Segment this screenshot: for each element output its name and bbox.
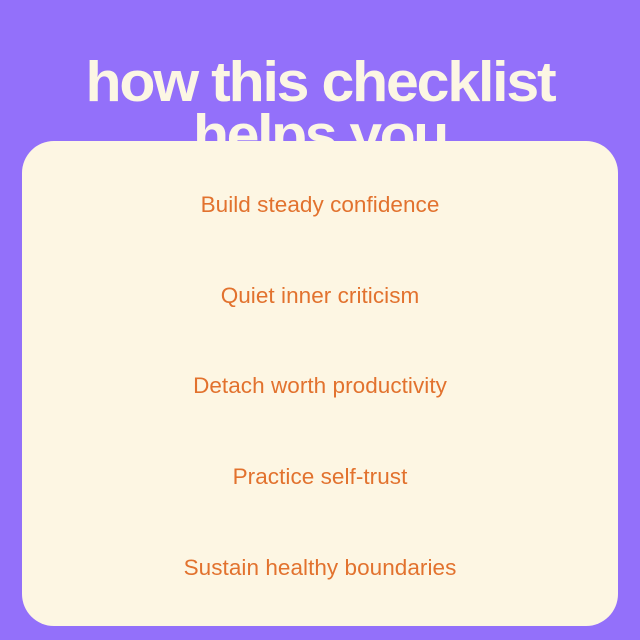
benefits-card: Build steady confidence Quiet inner crit… xyxy=(22,141,618,626)
list-item: Sustain healthy boundaries xyxy=(22,557,618,580)
list-item: Quiet inner criticism xyxy=(22,285,618,308)
page-title-line-1: how this checklist xyxy=(0,56,640,109)
list-item: Detach worth productivity xyxy=(22,375,618,398)
list-item: Practice self-trust xyxy=(22,466,618,489)
list-item: Build steady confidence xyxy=(22,194,618,217)
poster-canvas: how this checklist helps you Build stead… xyxy=(0,0,640,640)
benefits-list: Build steady confidence Quiet inner crit… xyxy=(22,141,618,626)
